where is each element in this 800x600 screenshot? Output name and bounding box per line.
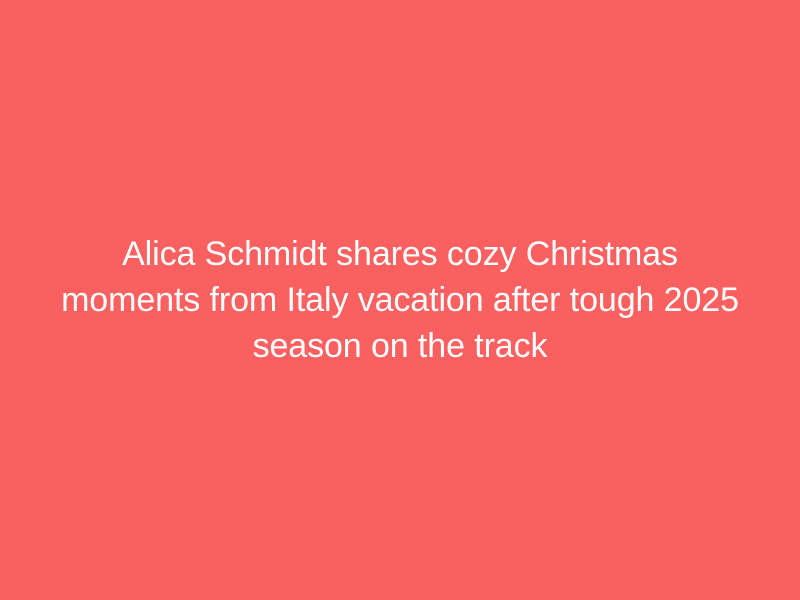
headline-text-block: Alica Schmidt shares cozy Christmas mome… [40,231,760,369]
headline-card: Alica Schmidt shares cozy Christmas mome… [0,0,800,600]
headline-title: Alica Schmidt shares cozy Christmas mome… [52,231,748,369]
